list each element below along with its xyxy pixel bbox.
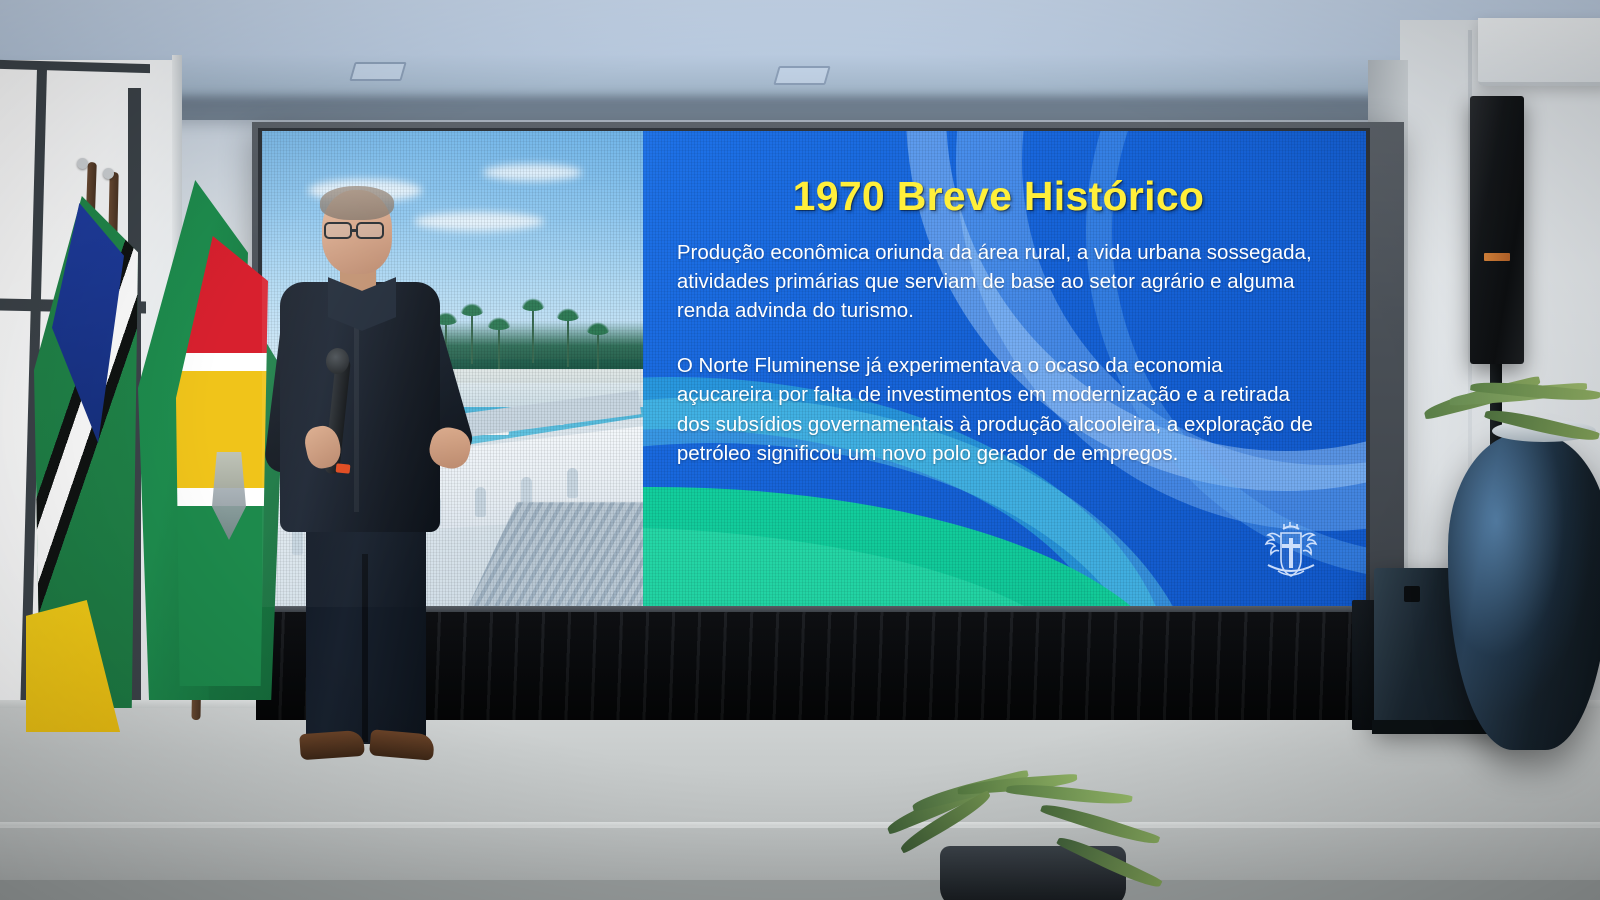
photo-palm-tree [498, 326, 500, 370]
slide-text-panel: 1970 Breve Histórico Produção econômica … [643, 131, 1366, 607]
slide-title: 1970 Breve Histórico [677, 173, 1320, 220]
decorative-vase [1448, 432, 1600, 750]
fern-frond [1006, 780, 1133, 808]
presentation-scene: 1970 Breve Histórico Produção econômica … [0, 0, 1600, 900]
ceiling-light-panel [773, 66, 830, 85]
microphone-indicator [336, 463, 351, 473]
presenter-shoe [299, 730, 365, 760]
presenter-leg-seam [362, 554, 368, 742]
coat-of-arms-icon [1256, 519, 1326, 585]
presenter-hair [320, 186, 394, 220]
photo-palm-tree [567, 317, 569, 367]
slide-paragraph-2: O Norte Fluminense já experimentava o oc… [677, 351, 1320, 467]
ceiling-light-panel [349, 62, 406, 81]
photo-cloud [483, 164, 582, 181]
air-conditioner-unit [1478, 18, 1600, 86]
slide-paragraph-1: Produção econômica oriunda da área rural… [677, 238, 1320, 325]
flag-pole-finial [103, 168, 114, 179]
swoosh-bottom-left-green [643, 527, 1103, 607]
glasses-icon [324, 222, 352, 239]
presenter-shirt-placket [354, 302, 359, 512]
photo-palm-tree [597, 331, 599, 373]
photo-baluster [567, 468, 578, 498]
speaker-brand-badge [1484, 253, 1510, 261]
flag-pole-finial [77, 158, 88, 169]
foreground-fern-plant [880, 768, 1180, 900]
glasses-bridge [352, 229, 358, 232]
glasses-icon [356, 222, 384, 239]
swoosh-bottom-left-green [643, 487, 1183, 607]
subwoofer-port [1404, 586, 1420, 602]
lower-floor [0, 880, 1600, 900]
slide-content: 1970 Breve Histórico Produção econômica … [643, 131, 1366, 468]
column-speaker [1470, 96, 1524, 364]
photo-palm-tree [532, 307, 534, 363]
presenter [244, 182, 494, 782]
